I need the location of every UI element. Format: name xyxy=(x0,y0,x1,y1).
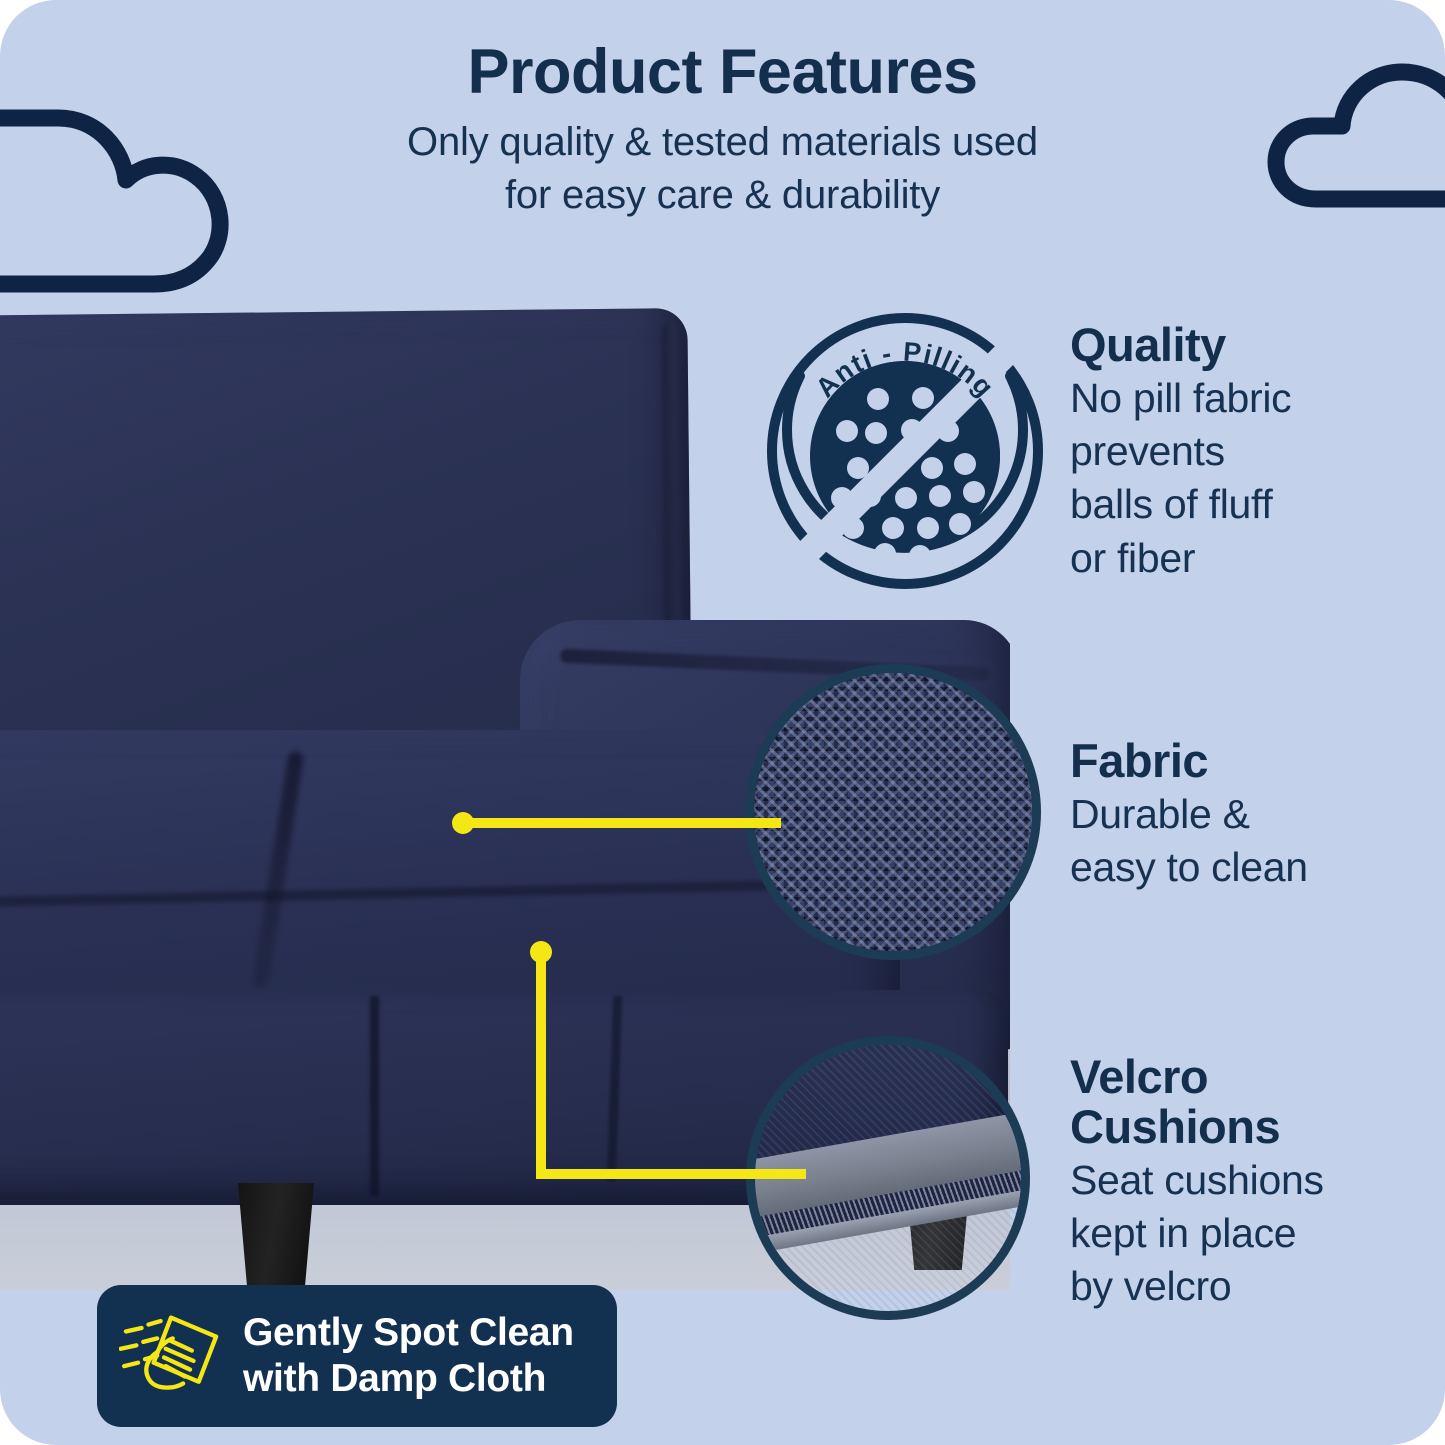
hand-wipe-cloth-icon xyxy=(119,1302,223,1411)
subtitle-line-1: Only quality & tested materials used xyxy=(0,116,1445,169)
feature-body-line: easy to clean xyxy=(1070,841,1430,894)
callout-line xyxy=(463,818,781,828)
feature-body-line: prevents xyxy=(1070,425,1430,478)
sofa-leg-left xyxy=(238,1183,314,1290)
care-line-1: Gently Spot Clean xyxy=(243,1310,574,1356)
feature-fabric: Fabric Durable & easy to clean xyxy=(1070,736,1430,894)
care-instruction-badge: Gently Spot Clean with Damp Cloth xyxy=(97,1285,617,1427)
feature-body-line: kept in place xyxy=(1070,1207,1440,1260)
feature-body-line: Durable & xyxy=(1070,788,1430,841)
header: Product Features Only quality & tested m… xyxy=(0,38,1445,222)
anti-pilling-badge: Anti - Pilling xyxy=(760,306,1050,596)
callout-velcro xyxy=(530,941,830,1191)
care-instruction-text: Gently Spot Clean with Damp Cloth xyxy=(243,1310,574,1402)
infographic-canvas: Product Features Only quality & tested m… xyxy=(0,0,1445,1445)
fabric-weave-texture xyxy=(754,673,1032,951)
fabric-closeup-circle xyxy=(745,664,1041,960)
callout-line-vertical xyxy=(536,952,546,1179)
base-seam xyxy=(370,996,379,1196)
callout-fabric xyxy=(452,812,782,836)
feature-title: Quality xyxy=(1070,320,1430,370)
page-subtitle: Only quality & tested materials used for… xyxy=(0,116,1445,222)
feature-velcro-cushions: Velcro Cushions Seat cushions kept in pl… xyxy=(1070,1052,1440,1314)
feature-body: No pill fabric prevents balls of fluff o… xyxy=(1070,372,1430,585)
feature-body-line: Seat cushions xyxy=(1070,1154,1440,1207)
feature-body-line: No pill fabric xyxy=(1070,372,1430,425)
subtitle-line-2: for easy care & durability xyxy=(0,169,1445,222)
feature-title-line: Velcro xyxy=(1070,1052,1440,1102)
feature-body: Seat cushions kept in place by velcro xyxy=(1070,1154,1440,1314)
feature-title: Velcro Cushions xyxy=(1070,1052,1440,1152)
callout-line-horizontal xyxy=(536,1169,806,1179)
page-title: Product Features xyxy=(0,38,1445,106)
feature-title-line: Cushions xyxy=(1070,1102,1440,1152)
feature-title: Fabric xyxy=(1070,736,1430,786)
feature-body-line: balls of fluff xyxy=(1070,478,1430,531)
care-line-2: with Damp Cloth xyxy=(243,1356,574,1402)
feature-body-line: by velcro xyxy=(1070,1260,1440,1313)
feature-quality: Quality No pill fabric prevents balls of… xyxy=(1070,320,1430,585)
feature-body: Durable & easy to clean xyxy=(1070,788,1430,895)
feature-body-line: or fiber xyxy=(1070,532,1430,585)
